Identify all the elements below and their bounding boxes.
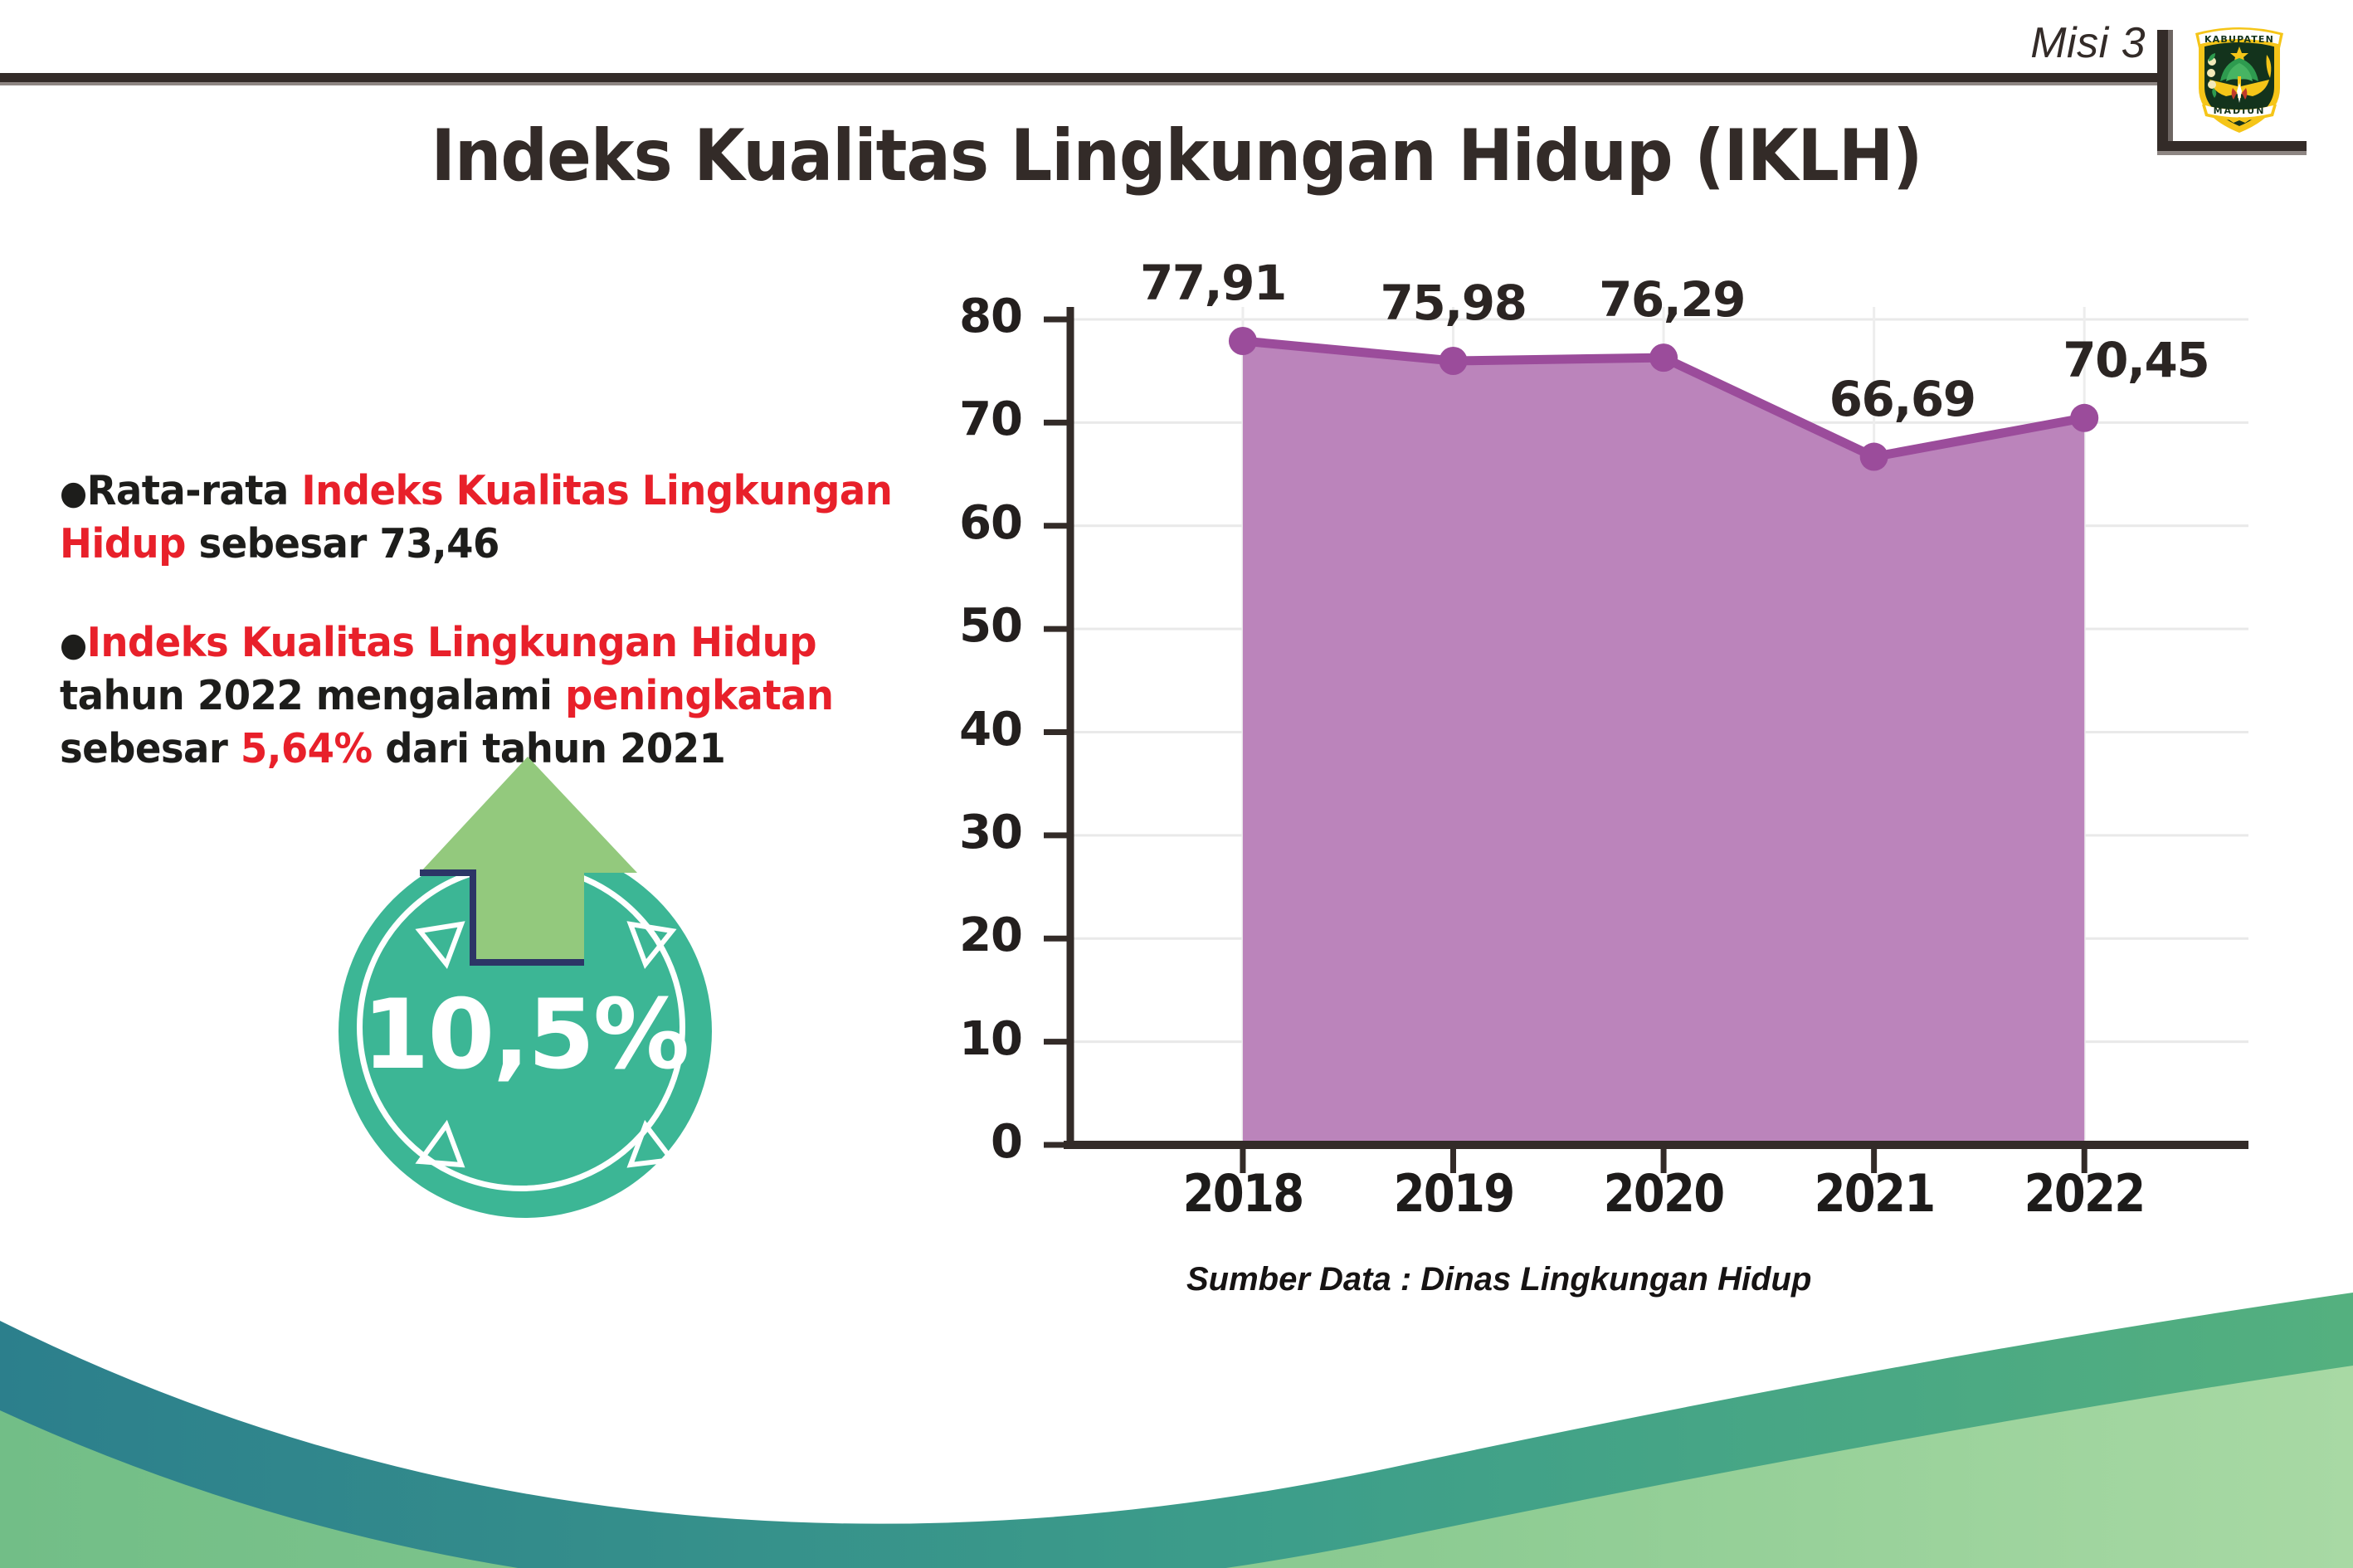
plain-text: tahun 2022 mengalami [60,672,565,719]
data-point-marker [1440,347,1468,375]
arrow-triangle-icon [420,1125,461,1165]
y-axis-tick-label: 60 [923,496,1022,550]
x-axis-tick-label: 2020 [1576,1163,1751,1224]
footer-wave: Media Infografis Data Statistik Sektoral… [0,1286,2353,1568]
misi-label: Misi 3 [2030,18,2146,68]
y-axis-tick-label: 80 [923,290,1022,343]
y-axis-tick-label: 20 [923,908,1022,962]
x-axis-tick-label: 2019 [1366,1163,1541,1224]
bullet-text-average: Rata-rata Indeks Kualitas Lingkungan Hid… [60,467,892,567]
bullet-dot-icon: ● [60,626,87,665]
y-axis-tick-label: 50 [923,599,1022,653]
x-axis-tick-label: 2018 [1155,1163,1330,1224]
data-point-marker [1860,443,1888,471]
badge-percentage: 10,5% [339,979,712,1091]
highlight-text: Indeks Kualitas Lingkungan Hidup [87,619,816,666]
chart-area-fill [1243,341,2084,1145]
plain-text: sebesar 73,46 [186,520,499,567]
bullet-item-average: ●Rata-rata Indeks Kualitas Lingkungan Hi… [60,465,943,570]
infographic-slide: Misi 3 KABUPATEN MADIUN [0,0,2353,1568]
y-axis-tick-label: 10 [923,1012,1022,1066]
iklh-area-chart: 01020304050607080 20182019202020212022 7… [954,274,2298,1203]
data-point-label: 77,91 [1089,255,1337,311]
increase-badge: 10,5% [322,747,787,1228]
data-point-marker [1649,343,1678,372]
header-divider-rule [0,73,2167,82]
arrow-triangle-icon [631,1125,672,1165]
bullet-dot-icon: ● [60,475,87,513]
y-axis-tick-label: 40 [923,703,1022,757]
arrow-triangle-icon [420,924,461,964]
page-title: Indeks Kualitas Lingkungan Hidup (IKLH) [94,114,2258,197]
up-arrow-icon [420,757,637,962]
data-point-marker [2070,404,2098,432]
logo-top-text: KABUPATEN [2204,34,2274,45]
x-axis-tick-label: 2021 [1786,1163,1961,1224]
area-fill-path [1243,341,2084,1145]
x-axis-tick-label: 2022 [1997,1163,2172,1224]
highlight-text: peningkatan [565,672,833,719]
data-point-marker [1229,327,1257,355]
chart-canvas [954,274,2298,1203]
data-point-label: 76,29 [1547,271,1796,328]
plain-text: Rata-rata [87,467,302,514]
y-axis-tick-label: 30 [923,806,1022,859]
data-point-label: 66,69 [1778,371,2027,427]
y-axis-tick-label: 0 [923,1115,1022,1169]
data-point-label: 75,98 [1329,275,1578,331]
y-axis-tick-label: 70 [923,392,1022,446]
plain-text: sebesar [60,725,241,772]
data-point-label: 70,45 [2011,332,2260,388]
arrow-triangle-icon [631,924,672,964]
